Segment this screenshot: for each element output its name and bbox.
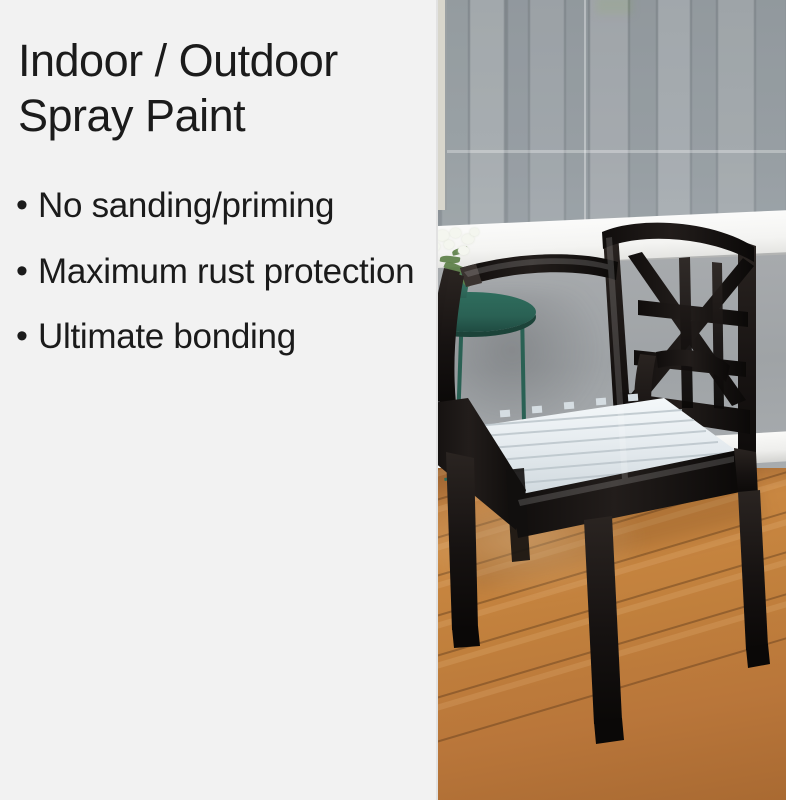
product-photo <box>438 0 786 800</box>
bullet-point-icon: • <box>14 186 38 225</box>
bullet-point-icon: • <box>14 252 38 291</box>
page-title: Indoor / Outdoor Spray Paint <box>18 34 430 144</box>
bullet-point-icon: • <box>14 317 38 356</box>
text-panel: Indoor / Outdoor Spray Paint • No sandin… <box>0 0 438 800</box>
feature-bullet-list: • No sanding/priming • Maximum rust prot… <box>14 186 434 358</box>
list-item: • No sanding/priming <box>14 186 434 227</box>
list-item: • Maximum rust protection <box>14 252 434 293</box>
product-feature-card: Indoor / Outdoor Spray Paint • No sandin… <box>0 0 800 800</box>
feature-label: Ultimate bonding <box>38 317 434 358</box>
black-patio-armchair <box>438 0 786 800</box>
photo-right-margin <box>786 0 800 800</box>
product-photo-panel <box>438 0 800 800</box>
list-item: • Ultimate bonding <box>14 317 434 358</box>
feature-label: No sanding/priming <box>38 186 434 227</box>
feature-label: Maximum rust protection <box>38 252 434 293</box>
